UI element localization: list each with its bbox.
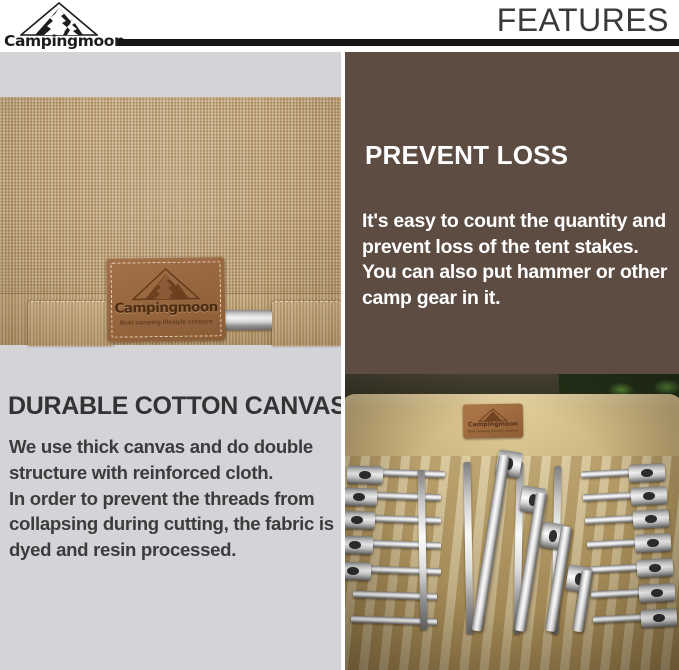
tent-stakes-photo: Campingmoon Best camping lifestyle creat… [345, 374, 679, 670]
page-header: Campingmoon FEATURES [0, 0, 679, 52]
page-title: FEATURES [497, 3, 669, 37]
patch-tagline-small: Best camping lifestyle creators [463, 428, 523, 434]
durable-canvas-body: We use thick canvas and do double struct… [9, 434, 341, 563]
brand-logo: Campingmoon [4, 2, 124, 52]
durable-canvas-panel: DURABLE COTTON CANVAS We use thick canva… [0, 374, 341, 670]
patch-brand: Campingmoon [107, 299, 225, 317]
mountain-icon [131, 267, 201, 302]
stake-head [639, 583, 676, 603]
durable-canvas-title: DURABLE COTTON CANVAS [8, 392, 341, 421]
durable-canvas-paragraph-1: We use thick canvas and do double struct… [9, 434, 341, 486]
stake-head [631, 486, 668, 506]
prevent-loss-title: PREVENT LOSS [365, 140, 568, 170]
stake-head [635, 533, 672, 553]
stake-head [345, 510, 375, 529]
stake-head [637, 558, 674, 578]
canvas-bag-photo: Campingmoon Best camping lifestyle creat… [0, 97, 341, 345]
mountain-icon [20, 2, 98, 36]
bag-pocket-right [272, 301, 341, 346]
prevent-loss-paragraph-1: It's easy to count the quantity and prev… [362, 209, 674, 260]
stake-head [347, 465, 384, 484]
stake-head [641, 608, 678, 628]
leather-patch-small: Campingmoon Best camping lifestyle creat… [463, 403, 524, 438]
bag-pocket-left [28, 301, 113, 346]
stake-head [633, 509, 670, 529]
patch-tagline: Best camping lifestyle creators [107, 317, 225, 328]
leather-patch: Campingmoon Best camping lifestyle creat… [106, 257, 225, 342]
feature-page: Campingmoon FEATURES Campingmoon Best ca… [0, 0, 679, 670]
stake-head [345, 535, 373, 554]
prevent-loss-paragraph-2: You can also put hammer or other camp ge… [362, 260, 674, 311]
stake-head [629, 463, 666, 483]
brand-name: Campingmoon [4, 32, 124, 50]
tent-stakes-photo-panel: Campingmoon Best camping lifestyle creat… [345, 374, 679, 670]
stake-head [345, 487, 377, 506]
header-rule [118, 39, 679, 46]
canvas-bag-photo-panel: Campingmoon Best camping lifestyle creat… [0, 52, 341, 374]
prevent-loss-body: It's easy to count the quantity and prev… [362, 209, 674, 311]
durable-canvas-paragraph-2: In order to prevent the threads from col… [9, 486, 341, 563]
stake-head [345, 561, 371, 580]
prevent-loss-panel: PREVENT LOSS It's easy to count the quan… [345, 52, 679, 374]
